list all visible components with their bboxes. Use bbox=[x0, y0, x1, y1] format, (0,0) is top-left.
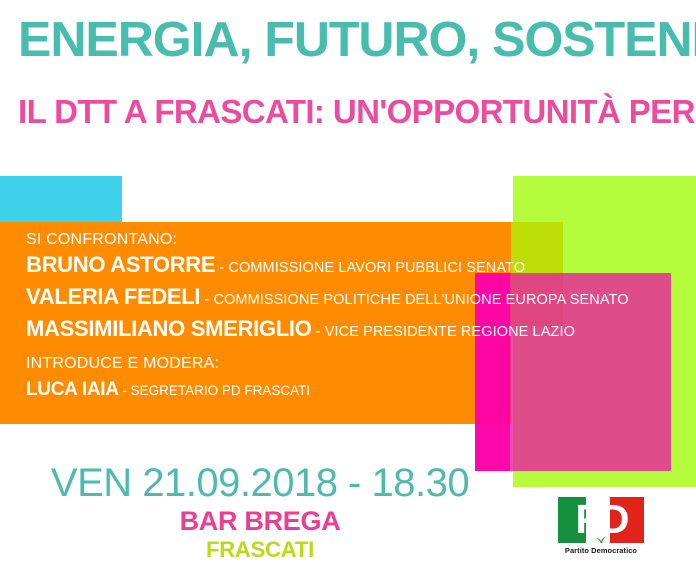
speakers-lead-in: SI CONFRONTANO: bbox=[26, 230, 666, 250]
speaker-separator: - bbox=[215, 260, 228, 276]
page-title: ENERGIA, FUTURO, SOSTENIBILITÀ bbox=[18, 10, 695, 70]
speaker-name: MASSIMILIANO SMERIGLIO bbox=[26, 316, 312, 341]
poster-canvas: ENERGIA, FUTURO, SOSTENIBILITÀ IL DTT A … bbox=[0, 0, 696, 583]
moderator-lead-in: INTRODUCE E MODERA: bbox=[26, 354, 666, 374]
speaker-row: VALERIA FEDELI - COMMISSIONE POLITICHE D… bbox=[26, 283, 666, 314]
moderator-name: LUCA IAIA bbox=[26, 379, 119, 400]
speaker-row: MASSIMILIANO SMERIGLIO - VICE PRESIDENTE… bbox=[26, 315, 666, 346]
speaker-role: COMMISSIONE LAVORI PUBBLICI SENATO bbox=[228, 260, 525, 276]
decor-block-cyan bbox=[0, 176, 122, 225]
moderator-separator: - bbox=[119, 383, 131, 398]
event-venue: BAR BREGA bbox=[0, 506, 520, 537]
pd-logo-caption: Partito Democratico bbox=[558, 546, 644, 555]
speaker-name: VALERIA FEDELI bbox=[26, 284, 200, 309]
speaker-row: BRUNO ASTORRE - COMMISSIONE LAVORI PUBBL… bbox=[26, 251, 666, 282]
speaker-role: VICE PRESIDENTE REGIONE LAZIO bbox=[325, 324, 575, 340]
italian-flag-icon: PD bbox=[558, 497, 644, 543]
speakers-panel: SI CONFRONTANO: BRUNO ASTORRE - COMMISSI… bbox=[26, 222, 666, 424]
moderator-row: LUCA IAIA - SEGRETARIO PD FRASCATI bbox=[26, 377, 666, 404]
speaker-name: BRUNO ASTORRE bbox=[26, 252, 215, 277]
speaker-separator: - bbox=[312, 324, 325, 340]
pd-logo: PD Partito Democratico bbox=[558, 497, 644, 559]
page-subtitle: IL DTT A FRASCATI: UN'OPPORTUNITÀ PER TU… bbox=[18, 90, 682, 134]
speaker-role: COMMISSIONE POLITICHE DELL'UNIONE EUROPA… bbox=[213, 292, 628, 308]
speaker-separator: - bbox=[200, 292, 213, 308]
olive-sprig-icon bbox=[594, 533, 608, 543]
event-city: FRASCATI bbox=[0, 537, 520, 563]
headline-area: ENERGIA, FUTURO, SOSTENIBILITÀ IL DTT A … bbox=[0, 0, 696, 165]
event-datetime: VEN 21.09.2018 - 18.30 bbox=[0, 460, 520, 506]
moderator-role: SEGRETARIO PD FRASCATI bbox=[131, 383, 311, 398]
event-details: VEN 21.09.2018 - 18.30 BAR BREGA FRASCAT… bbox=[0, 460, 520, 563]
